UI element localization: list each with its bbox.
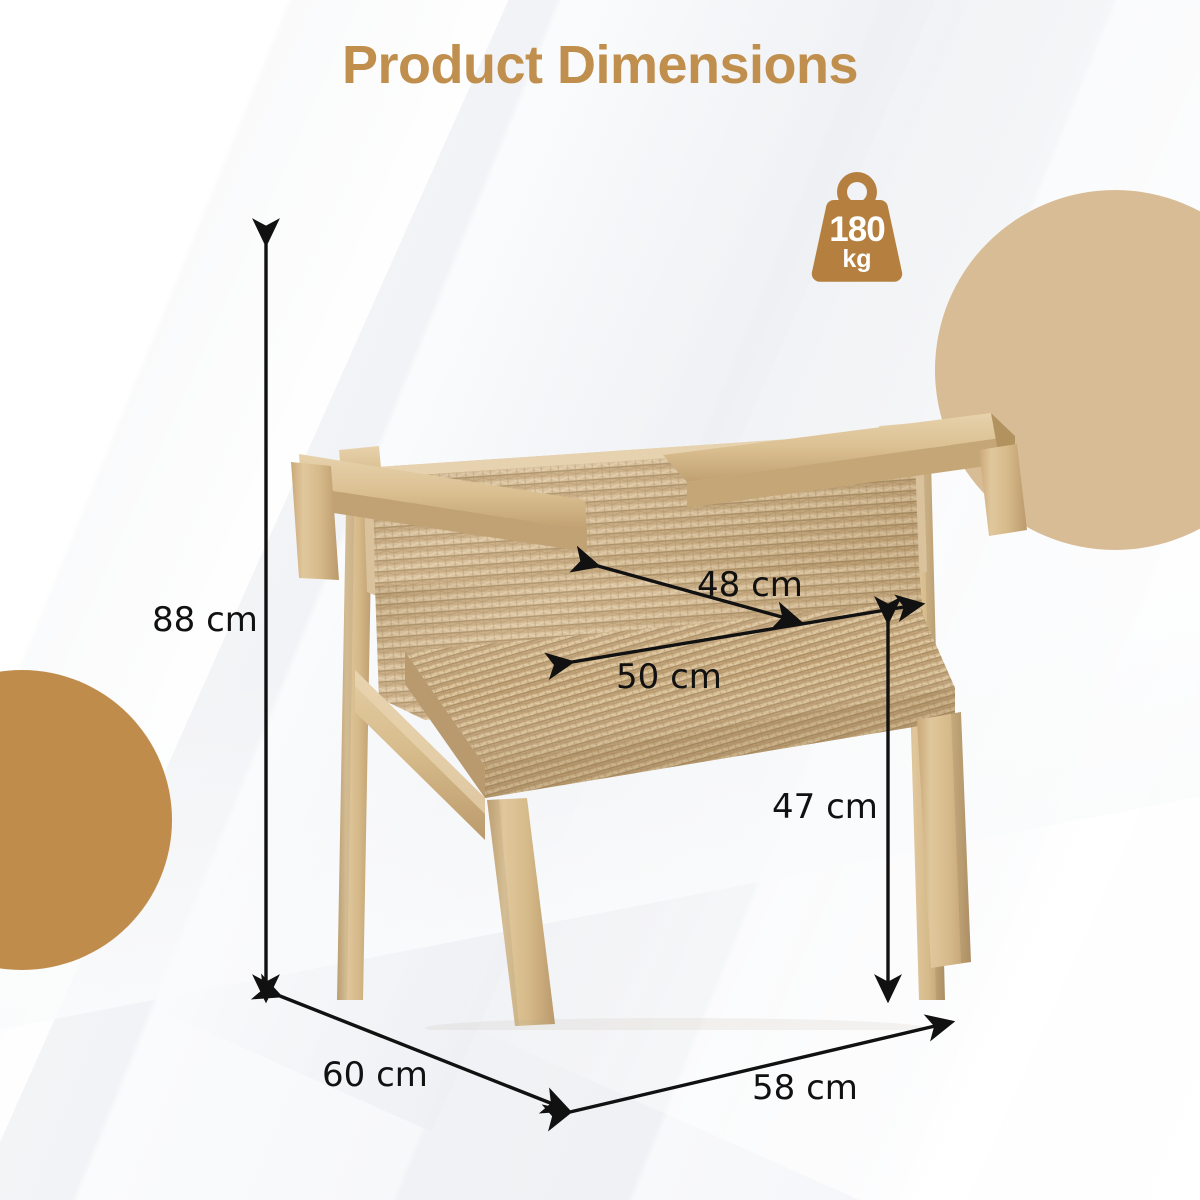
dimension-label-overall-depth: 60 cm xyxy=(322,1055,428,1095)
dimension-label-seat-width: 50 cm xyxy=(616,657,722,697)
dimension-label-overall-height: 88 cm xyxy=(152,600,258,640)
dimension-label-seat-height: 47 cm xyxy=(772,787,878,827)
dimension-arrow-50cm xyxy=(572,604,922,662)
dimension-label-seat-depth: 48 cm xyxy=(697,565,803,605)
dimension-label-overall-width: 58 cm xyxy=(752,1068,858,1108)
infographic-canvas: Product Dimensions 180 kg xyxy=(0,0,1200,1200)
